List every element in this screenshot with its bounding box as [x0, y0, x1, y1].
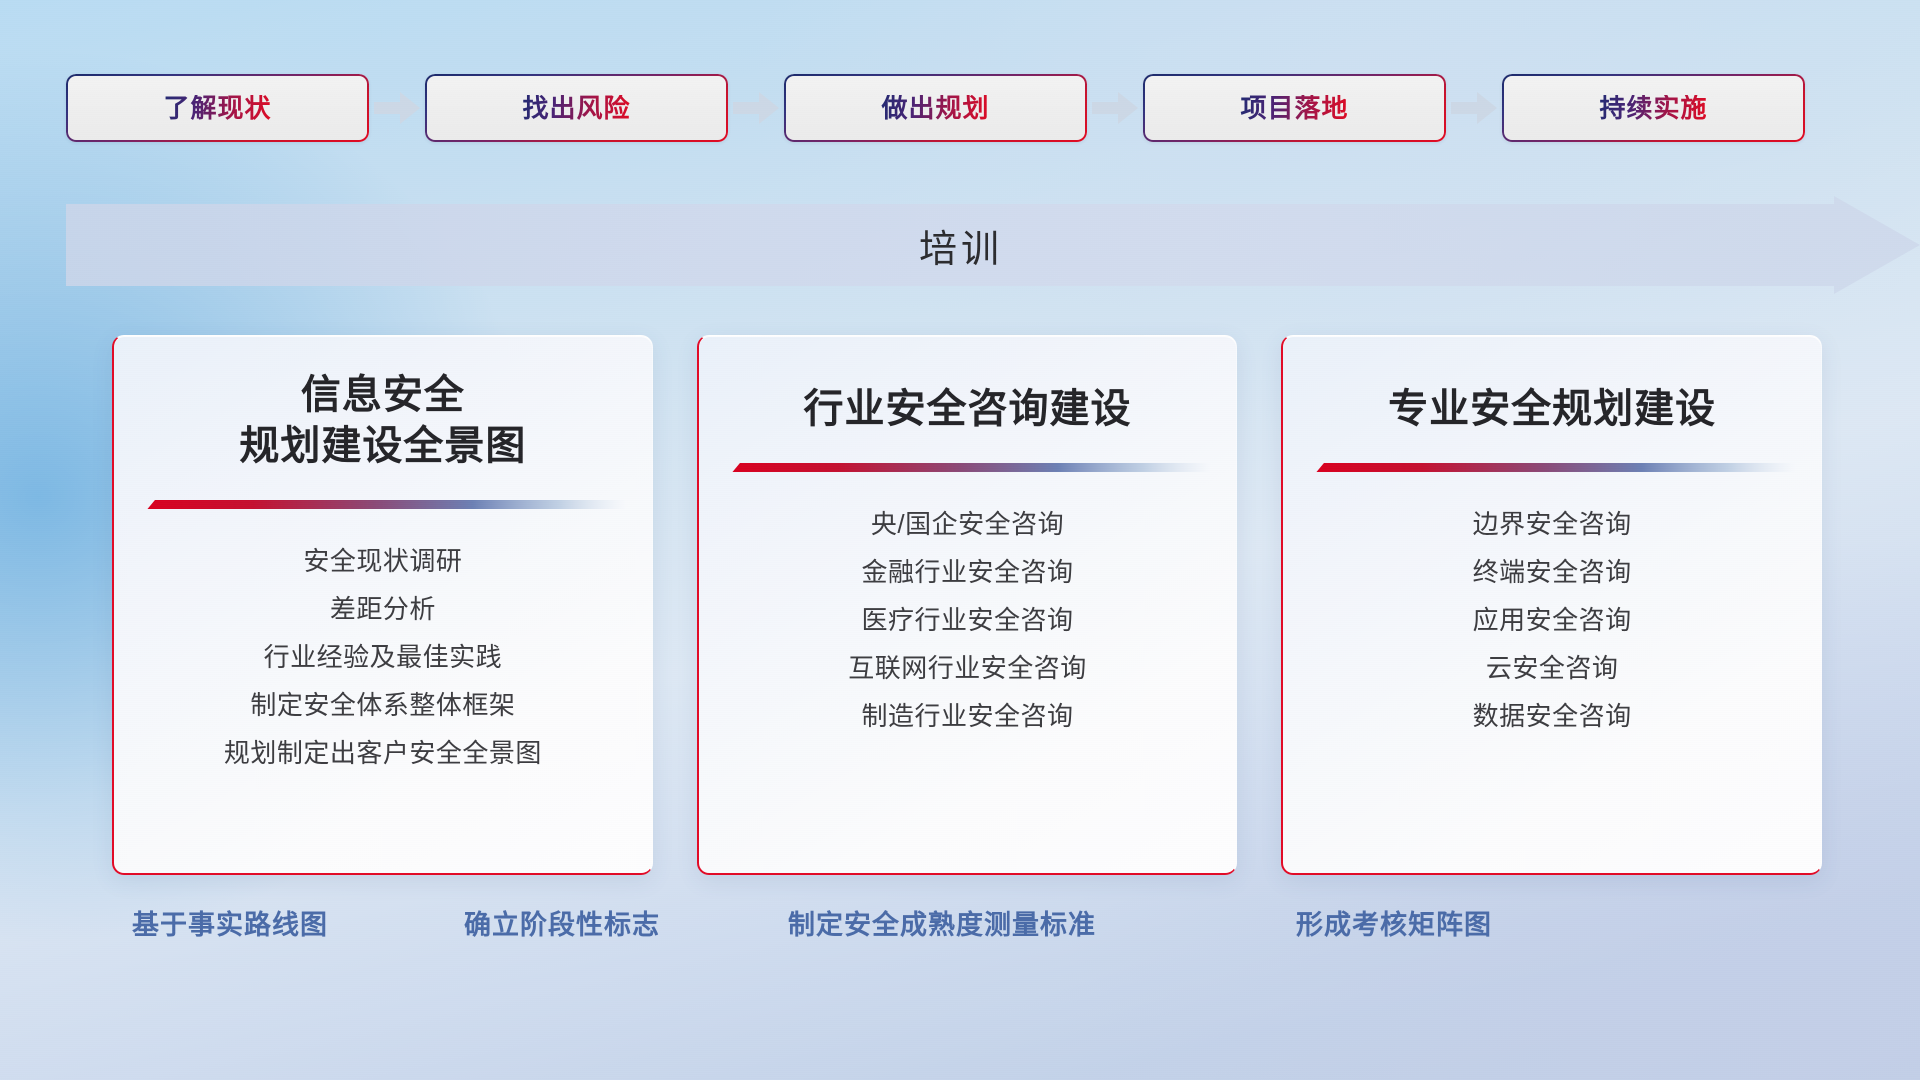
list-item: 应用安全咨询 — [1309, 596, 1795, 644]
flow-step-label: 项目落地 — [1240, 95, 1348, 121]
arrow-right-icon — [1446, 91, 1502, 125]
list-item: 安全现状调研 — [140, 537, 626, 585]
card-divider-rule — [1309, 461, 1795, 474]
list-item: 规划制定出客户安全全景图 — [140, 729, 626, 777]
card-title: 专业安全规划建设 — [1388, 384, 1716, 435]
card-title: 行业安全咨询建设 — [804, 384, 1132, 435]
card-industry-security-consulting[interactable]: 行业安全咨询建设 — [697, 335, 1238, 875]
flow-step-1[interactable]: 了解现状 — [66, 74, 369, 142]
footnote-label: 制定安全成熟度测量标准 — [788, 912, 1096, 939]
card-group: 信息安全 规划建设全景图 — [112, 335, 1822, 875]
card-title: 信息安全 规划建设全景图 — [239, 370, 526, 472]
banner-title: 培训 — [66, 196, 1856, 294]
list-item: 医疗行业安全咨询 — [725, 596, 1211, 644]
list-item: 数据安全咨询 — [1309, 692, 1795, 740]
list-item: 行业经验及最佳实践 — [140, 633, 626, 681]
arrow-right-icon — [369, 91, 425, 125]
process-flow: 了解现状 找出风险 做出规划 项目落地 持续实施 — [66, 68, 1862, 148]
list-item: 制定安全体系整体框架 — [140, 681, 626, 729]
card-item-list: 央/国企安全咨询 金融行业安全咨询 医疗行业安全咨询 互联网行业安全咨询 制造行… — [725, 500, 1211, 740]
flow-step-5[interactable]: 持续实施 — [1502, 74, 1805, 142]
list-item: 制造行业安全咨询 — [725, 692, 1211, 740]
list-item: 央/国企安全咨询 — [725, 500, 1211, 548]
footnote-label: 形成考核矩阵图 — [1296, 912, 1492, 939]
list-item: 差距分析 — [140, 585, 626, 633]
card-item-list: 安全现状调研 差距分析 行业经验及最佳实践 制定安全体系整体框架 规划制定出客户… — [140, 537, 626, 777]
list-item: 互联网行业安全咨询 — [725, 644, 1211, 692]
card-information-security-panorama[interactable]: 信息安全 规划建设全景图 — [112, 335, 653, 875]
card-divider-rule — [725, 461, 1211, 474]
footnote-row: 基于事实路线图 确立阶段性标志 制定安全成熟度测量标准 形成考核矩阵图 — [0, 912, 1920, 968]
list-item: 边界安全咨询 — [1309, 500, 1795, 548]
flow-step-2[interactable]: 找出风险 — [425, 74, 728, 142]
flow-step-label: 了解现状 — [163, 95, 271, 121]
flow-step-label: 持续实施 — [1599, 95, 1707, 121]
arrow-right-icon — [728, 91, 784, 125]
footnote-label: 确立阶段性标志 — [464, 912, 660, 939]
list-item: 金融行业安全咨询 — [725, 548, 1211, 596]
list-item: 云安全咨询 — [1309, 644, 1795, 692]
card-item-list: 边界安全咨询 终端安全咨询 应用安全咨询 云安全咨询 数据安全咨询 — [1309, 500, 1795, 740]
flow-step-4[interactable]: 项目落地 — [1143, 74, 1446, 142]
footnote-label: 基于事实路线图 — [132, 912, 328, 939]
slide-canvas: 了解现状 找出风险 做出规划 项目落地 持续实施 — [0, 0, 1920, 1080]
training-banner: 培训 — [66, 196, 1920, 294]
flow-step-3[interactable]: 做出规划 — [784, 74, 1087, 142]
card-professional-security-planning[interactable]: 专业安全规划建设 — [1281, 335, 1822, 875]
arrow-right-icon — [1087, 91, 1143, 125]
flow-step-label: 做出规划 — [881, 95, 989, 121]
card-divider-rule — [140, 498, 626, 511]
list-item: 终端安全咨询 — [1309, 548, 1795, 596]
flow-step-label: 找出风险 — [522, 95, 630, 121]
